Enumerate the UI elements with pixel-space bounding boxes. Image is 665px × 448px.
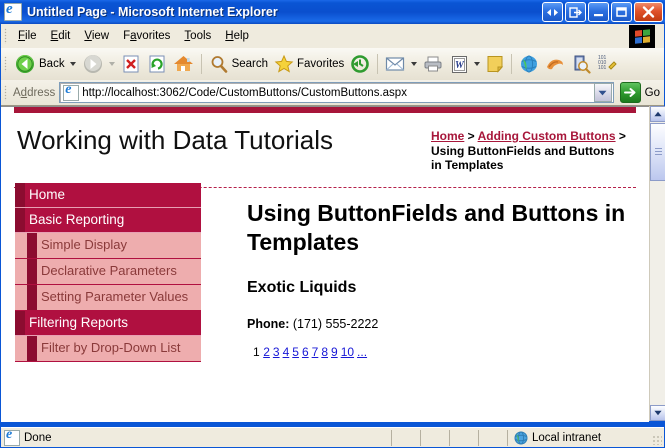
pager-link-9[interactable]: 9 <box>331 345 338 359</box>
stop-icon <box>121 54 141 74</box>
home-button[interactable] <box>170 52 197 76</box>
scroll-up-button[interactable] <box>650 106 665 122</box>
scroll-down-button[interactable] <box>650 405 665 421</box>
edit-dropdown-caret[interactable] <box>474 62 480 66</box>
maximize-button[interactable] <box>611 2 632 22</box>
svg-text:101: 101 <box>598 65 607 71</box>
go-button[interactable]: Go <box>620 82 660 103</box>
sidebar-item-label: Declarative Parameters <box>41 263 177 278</box>
breadcrumb-current: Using ButtonFields and Buttons in Templa… <box>431 144 614 173</box>
toolbar-separator-3 <box>511 54 512 74</box>
resize-grip[interactable] <box>652 435 662 445</box>
sidebar-item-setting-parameter-values[interactable]: Setting Parameter Values <box>15 285 201 311</box>
sidebar-item-label: Setting Parameter Values <box>41 289 188 304</box>
firefox-button[interactable] <box>542 52 568 76</box>
phone-label: Phone: <box>247 317 289 331</box>
refresh-button[interactable] <box>144 52 170 76</box>
address-label: Address <box>13 87 55 99</box>
research-button[interactable] <box>568 52 594 76</box>
new-window-button[interactable] <box>565 2 586 22</box>
messenger-icon <box>519 54 539 74</box>
main-content: Using ButtonFields and Buttons in Templa… <box>247 199 627 359</box>
back-arrow-icon <box>14 53 36 75</box>
pager-current-page: 1 <box>253 345 260 359</box>
status-pane-3 <box>449 430 478 446</box>
forward-dropdown-caret[interactable] <box>109 62 115 66</box>
messenger-button[interactable] <box>516 52 542 76</box>
phone-value: (171) 555-2222 <box>293 317 378 331</box>
status-pane-4 <box>478 430 507 446</box>
menu-item-view[interactable]: View <box>77 28 116 44</box>
search-icon <box>209 54 229 74</box>
toolbar-separator-1 <box>201 54 202 74</box>
chevron-up-icon <box>654 111 662 117</box>
forward-button[interactable] <box>79 52 118 76</box>
home-icon <box>173 54 194 74</box>
mail-dropdown-caret[interactable] <box>411 62 417 66</box>
sidebar-item-simple-display[interactable]: Simple Display <box>15 233 201 259</box>
menu-item-help[interactable]: Help <box>218 28 256 44</box>
sidebar-item-label: Simple Display <box>41 237 127 252</box>
sidebar-item-declarative-parameters[interactable]: Declarative Parameters <box>15 259 201 285</box>
content-subheading: Exotic Liquids <box>247 279 627 297</box>
browser-window: Untitled Page - Microsoft Internet Explo… <box>0 0 665 448</box>
window-title: Untitled Page - Microsoft Internet Explo… <box>27 5 278 19</box>
encoding-icon: 101010101 <box>597 54 617 74</box>
address-url-text[interactable]: http://localhost:3062/Code/CustomButtons… <box>82 87 407 99</box>
globe-icon <box>514 431 528 445</box>
menu-item-file[interactable]: File <box>11 28 44 44</box>
history-button[interactable] <box>347 52 373 76</box>
history-icon <box>350 54 370 74</box>
sidebar-item-filter-by-drop-down-list[interactable]: Filter by Drop-Down List <box>15 336 201 362</box>
menu-item-edit[interactable]: Edit <box>44 28 78 44</box>
search-button-label: Search <box>232 58 268 70</box>
pager-link-5[interactable]: 5 <box>292 345 299 359</box>
breadcrumb-separator-1: > <box>464 129 477 143</box>
refresh-icon <box>147 54 167 74</box>
status-bar: Done Local intranet <box>1 427 664 447</box>
encoding-button[interactable]: 101010101 <box>594 52 620 76</box>
status-message: Done <box>24 432 52 444</box>
forward-arrow-icon <box>82 53 104 75</box>
sidebar-item-basic-reporting[interactable]: Basic Reporting <box>15 208 201 233</box>
address-input[interactable]: http://localhost:3062/Code/CustomButtons… <box>59 82 613 103</box>
page-canvas: Working with Data Tutorials Home > Addin… <box>1 106 649 422</box>
firefox-icon <box>545 55 565 73</box>
pager-link-6[interactable]: 6 <box>302 345 309 359</box>
phone-row: Phone: (171) 555-2222 <box>247 317 627 331</box>
favorites-button[interactable]: Favorites <box>271 52 347 76</box>
favorites-star-icon <box>274 54 294 74</box>
status-message-pane: Done <box>1 430 391 446</box>
breadcrumb-link-home[interactable]: Home <box>431 129 464 143</box>
edit-with-word-button[interactable]: W <box>447 52 483 76</box>
favorites-button-label: Favorites <box>297 58 344 70</box>
print-button[interactable] <box>420 52 447 76</box>
pager-link-7[interactable]: 7 <box>312 345 319 359</box>
menu-grip-handle[interactable] <box>4 28 7 44</box>
minimize-button[interactable] <box>588 2 609 22</box>
status-pane-1 <box>391 430 420 446</box>
address-dropdown-button[interactable] <box>594 83 612 102</box>
mail-button[interactable] <box>382 52 420 76</box>
sidebar-item-home[interactable]: Home <box>15 183 201 208</box>
window-controls <box>542 2 663 22</box>
print-icon <box>423 55 444 73</box>
address-bar: Address http://localhost:3062/Code/Custo… <box>1 80 664 106</box>
pager-link-8[interactable]: 8 <box>321 345 328 359</box>
ie-document-icon <box>4 3 22 21</box>
sidebar-item-label: Filter by Drop-Down List <box>41 340 180 355</box>
vertical-scrollbar[interactable] <box>649 106 665 421</box>
address-grip-handle[interactable] <box>4 85 7 101</box>
sidebar-item-filtering-reports[interactable]: Filtering Reports <box>15 311 201 336</box>
scrollbar-thumb[interactable] <box>650 123 665 181</box>
back-button[interactable]: Back <box>11 52 79 76</box>
research-icon <box>571 54 591 74</box>
navigation-toolbar: Back <box>1 48 664 81</box>
page-header: Working with Data Tutorials Home > Addin… <box>1 113 649 187</box>
menu-item-favorites[interactable]: Favorites <box>116 28 177 44</box>
ie-document-icon <box>63 85 79 101</box>
toolbar-grip-handle[interactable] <box>4 56 7 72</box>
sidebar-item-label: Home <box>29 187 65 202</box>
back-button-label: Back <box>39 58 65 70</box>
pager-link-4[interactable]: 4 <box>283 345 290 359</box>
breadcrumb-separator-2: > <box>616 129 626 143</box>
title-bar: Untitled Page - Microsoft Internet Explo… <box>0 0 665 24</box>
sidebar-item-label: Filtering Reports <box>29 315 128 330</box>
breadcrumb: Home > Adding Custom Buttons > Using But… <box>431 129 627 173</box>
restore-group-button[interactable] <box>542 2 563 22</box>
ie-document-icon <box>4 430 20 446</box>
go-arrow-icon <box>620 82 641 103</box>
chevron-down-icon <box>598 90 607 96</box>
status-pane-2 <box>420 430 449 446</box>
menu-bar: File Edit View Favorites Tools Help <box>1 24 664 49</box>
sidebar-navigation: Home Basic Reporting Simple Display Decl… <box>15 183 201 362</box>
go-button-label: Go <box>645 87 660 99</box>
windows-flag-logo <box>620 24 664 48</box>
menu-item-tools[interactable]: Tools <box>177 28 218 44</box>
pager: 12345678910... <box>247 345 627 359</box>
scrollbar-thumb-grip <box>655 148 662 156</box>
notes-button[interactable] <box>483 52 507 76</box>
search-button[interactable]: Search <box>206 52 271 76</box>
breadcrumb-link-section[interactable]: Adding Custom Buttons <box>478 129 616 143</box>
page-title: Working with Data Tutorials <box>17 125 333 156</box>
pager-link-more[interactable]: ... <box>357 345 367 359</box>
pager-link-10[interactable]: 10 <box>341 345 354 359</box>
content-heading: Using ButtonFields and Buttons in Templa… <box>247 199 627 257</box>
sidebar-item-label: Basic Reporting <box>29 212 124 227</box>
pager-link-2[interactable]: 2 <box>263 345 270 359</box>
notes-icon <box>486 55 504 73</box>
stop-button[interactable] <box>118 52 144 76</box>
svg-text:W: W <box>455 60 465 71</box>
close-button[interactable] <box>634 2 663 22</box>
chevron-down-icon <box>654 410 662 416</box>
back-dropdown-caret[interactable] <box>70 62 76 66</box>
mail-icon <box>385 55 406 73</box>
security-zone-label: Local intranet <box>532 432 601 444</box>
toolbar-separator-2 <box>377 54 378 74</box>
security-zone-pane[interactable]: Local intranet <box>507 430 664 446</box>
pager-link-3[interactable]: 3 <box>273 345 280 359</box>
edit-word-icon: W <box>450 55 469 74</box>
